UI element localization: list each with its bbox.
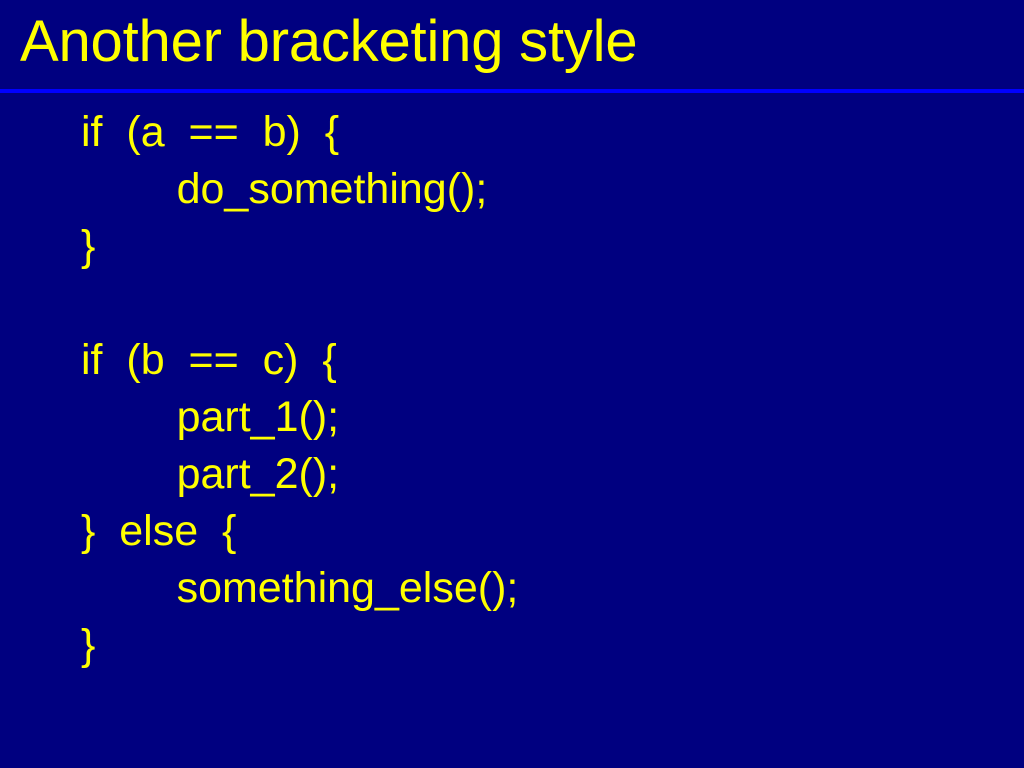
code-line-blank bbox=[81, 275, 981, 332]
code-line: something_else(); bbox=[81, 560, 981, 617]
code-line: if (a == b) { bbox=[81, 104, 981, 161]
code-line: do_something(); bbox=[81, 161, 981, 218]
code-line: part_1(); bbox=[81, 389, 981, 446]
title-divider-rule bbox=[0, 89, 1024, 93]
code-line: } bbox=[81, 617, 981, 674]
page-title: Another bracketing style bbox=[20, 6, 637, 78]
slide: Another bracketing style if (a == b) { d… bbox=[0, 0, 1024, 768]
code-line: } bbox=[81, 218, 981, 275]
code-line: part_2(); bbox=[81, 446, 981, 503]
code-line: } else { bbox=[81, 503, 981, 560]
code-listing: if (a == b) { do_something(); } if (b ==… bbox=[81, 104, 981, 674]
code-line: if (b == c) { bbox=[81, 332, 981, 389]
slide-title-bar: Another bracketing style bbox=[0, 0, 1024, 89]
